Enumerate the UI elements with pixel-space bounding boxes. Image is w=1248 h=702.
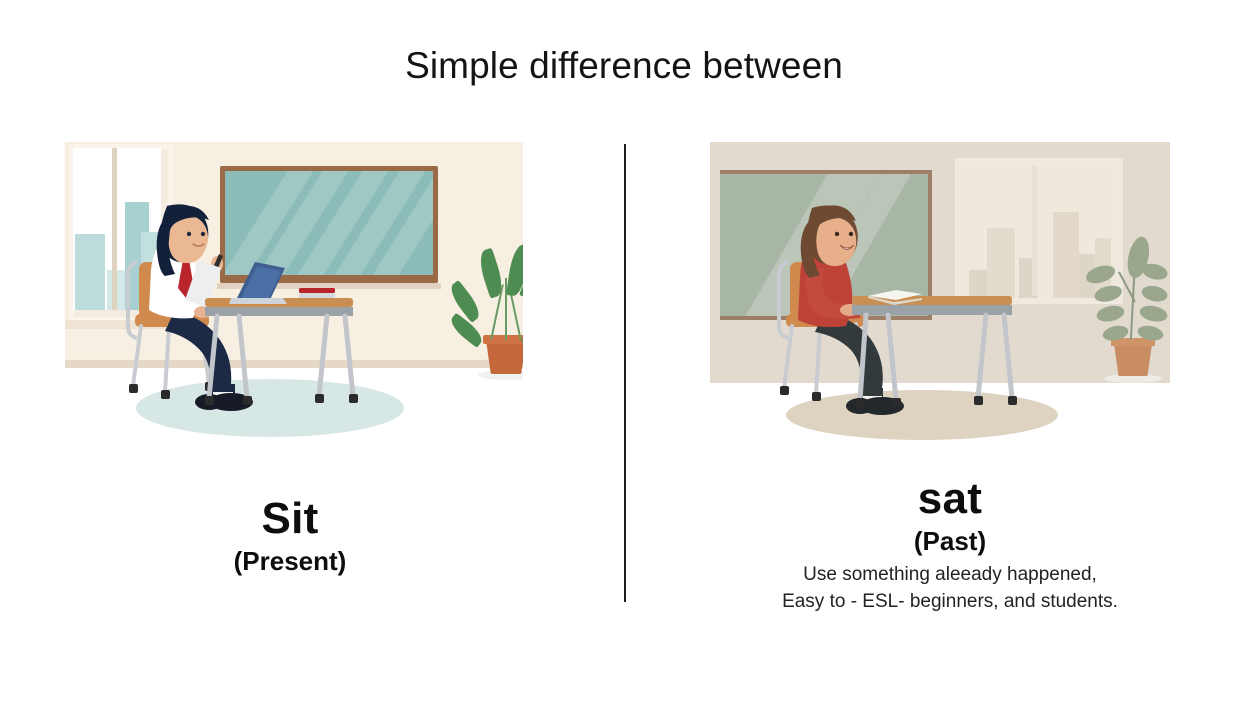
caption-right: sat (Past) Use something aleeady happene… [715, 474, 1185, 616]
description-line-1: Use something aleeady happened, [715, 562, 1185, 589]
word-left: Sit [105, 494, 475, 543]
laptop-left [229, 262, 287, 304]
description-line-2: Easy to - ESL- beginners, and students. [715, 589, 1185, 616]
tense-left: (Present) [105, 545, 475, 579]
book-left [299, 288, 335, 298]
student-figure-left [113, 202, 403, 440]
word-right: sat [715, 474, 1185, 523]
page-title: Simple difference between [0, 44, 1248, 88]
illustration-left-present [65, 142, 523, 447]
tense-right: (Past) [715, 525, 1185, 559]
potted-plant-left [460, 240, 523, 380]
potted-plant-right [1082, 234, 1170, 384]
student-figure-right [768, 200, 1068, 442]
caption-left: Sit (Present) [105, 494, 475, 579]
vertical-divider [624, 144, 626, 602]
illustration-right-past [710, 142, 1170, 444]
